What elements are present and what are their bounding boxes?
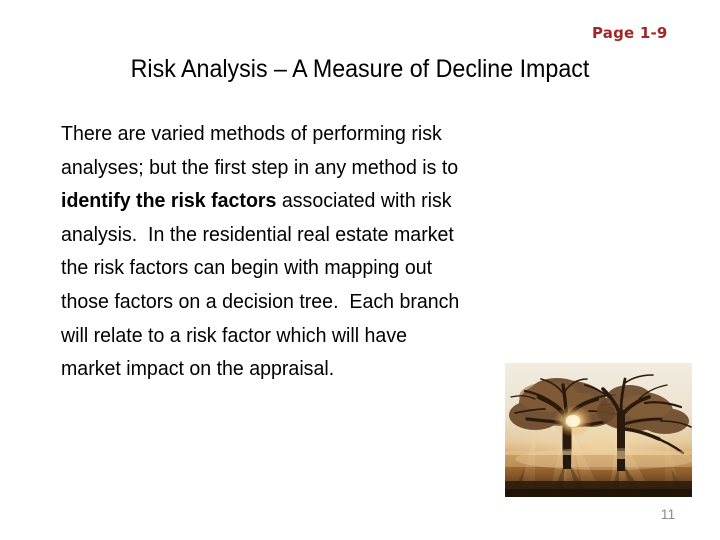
body-line-text: analysis. In the residential real estate… [61, 223, 454, 246]
body-line-bold: identify the risk factors [61, 189, 276, 212]
body-line-text: analyses; but the first step in any meth… [61, 156, 458, 179]
body-line: will relate to a risk factor which will … [61, 319, 596, 353]
body-line-text: will relate to a risk factor which will … [61, 324, 407, 347]
body-line: those factors on a decision tree. Each b… [61, 285, 596, 319]
body-line-text: There are varied methods of performing r… [61, 122, 442, 145]
body-paragraph: There are varied methods of performing r… [61, 117, 621, 386]
slide-number: 11 [650, 506, 686, 522]
body-line-text: market impact on the appraisal. [61, 357, 334, 380]
page-title: Risk Analysis – A Measure of Decline Imp… [62, 55, 657, 84]
page-reference-label: Page 1-9 [592, 24, 668, 42]
body-line: analyses; but the first step in any meth… [61, 151, 596, 185]
body-line-text: those factors on a decision tree. Each b… [61, 290, 459, 313]
two-trees-at-sunrise-photo [505, 363, 692, 497]
slide-canvas: Page 1-9 Risk Analysis – A Measure of De… [0, 0, 720, 540]
body-line-text: the risk factors can begin with mapping … [61, 256, 432, 279]
body-line: the risk factors can begin with mapping … [61, 251, 596, 285]
body-line: analysis. In the residential real estate… [61, 218, 596, 252]
body-line: There are varied methods of performing r… [61, 117, 596, 151]
body-line-text: associated with risk [276, 189, 451, 212]
body-line: identify the risk factors associated wit… [61, 184, 596, 218]
